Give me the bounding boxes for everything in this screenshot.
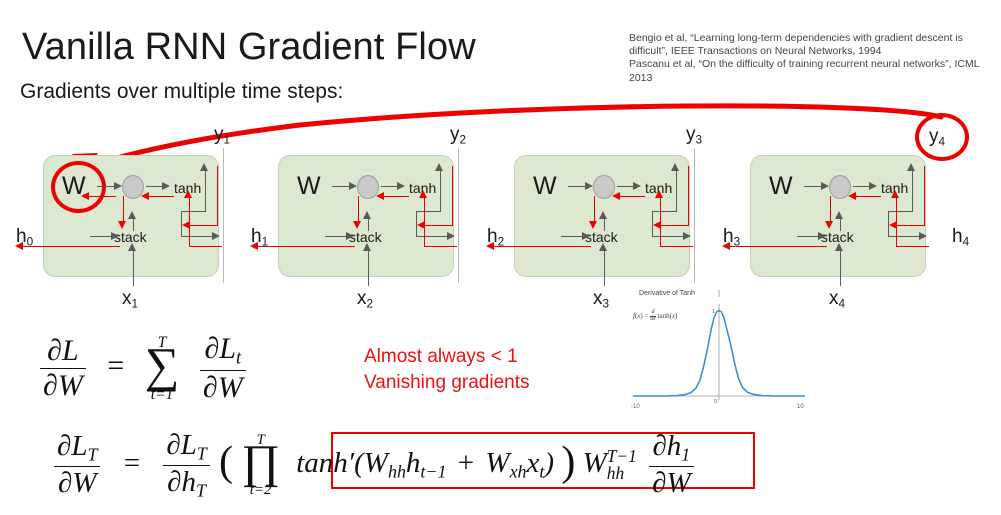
cell-1-y-label: y1 [214,124,230,146]
grad-arrow-y-down-4 [924,166,925,226]
grad-arrowhead-tanh-to-node-2 [376,192,384,200]
cell-4-y-label: y4 [929,126,945,148]
arrowhead-hin-to-stack-1 [111,232,119,240]
arrowhead-tanh-up-3 [671,163,679,171]
inset-chart-plot: 1 0 [625,288,810,410]
grad-arrow-y-in-4 [896,225,925,226]
grad-arrowhead-tanh-to-node-1 [141,192,149,200]
arrowhead-tanh-up-4 [907,163,915,171]
arrow-stack-to-node-2 [368,219,369,231]
arrow-tanh-branch-3 [652,211,677,212]
arrowhead-node-to-tanh-4 [869,182,877,190]
grad-arrow-hin-back-4 [729,246,827,247]
inset-chart-title: Derivative of Tanh [639,290,695,297]
grad-arrow-node-down-4 [830,196,831,222]
product-icon: ∏ [241,436,280,488]
grad-arrow-hout-back-2 [424,246,457,247]
arrow-node-to-tanh-4 [853,186,870,187]
cell-separator-2 [458,148,459,283]
citation-line-1: Bengio et al, “Learning long-term depend… [629,32,989,58]
formula1-equals: = [107,349,124,382]
grad-arrow-y-in-3 [660,225,689,226]
arrow-tanh-up-3 [676,170,677,212]
grad-arrow-y-in-2 [424,225,453,226]
grad-arrowhead-up-tanh-2 [419,190,427,198]
cell-4-h-out-label: h4 [952,226,969,248]
cell-2-y-label: y2 [450,124,466,146]
arrow-stack-to-node-1 [133,219,134,231]
arrow-hout-2 [416,236,449,237]
arrowhead-w-to-node-3 [585,182,593,190]
cell-3-x-label: x3 [593,288,609,310]
formula1-rhs-fraction: ∂Lt ∂W [200,333,246,404]
arrowhead-hin-to-stack-2 [346,232,354,240]
grad-arrow-to-w-1 [88,196,116,197]
arrow-hin-to-stack-3 [561,236,583,237]
formula2-w-power-term: W T−1 hh [583,447,645,479]
tanh-derivative-chart: Derivative of Tanh f(x) = d dx tanh(x) 1… [625,288,810,410]
inset-chart-equation: f(x) = d dx tanh(x) [633,310,677,323]
grad-arrow-right-down-1 [189,225,190,247]
arrowhead-stack-to-node-2 [363,211,371,219]
arrowhead-hout-4 [919,232,927,240]
arrow-hout-3 [652,236,685,237]
arrowhead-stack-to-node-1 [128,211,136,219]
sum-icon: ∑ [145,338,180,392]
arrowhead-stack-to-node-3 [599,211,607,219]
page-title: Vanilla RNN Gradient Flow [22,26,476,69]
grad-arrow-tanh-to-node-1 [148,196,174,197]
grad-arrowhead-y-in-3 [653,221,661,229]
cell-2-weight-label: W [297,172,321,201]
grad-arrowhead-to-w-1 [81,192,89,200]
cell-4-weight-label: W [769,172,793,201]
arrow-node-to-tanh-3 [617,186,634,187]
formula2-last-fraction: ∂h1 ∂W [649,431,694,499]
arrow-node-to-tanh-1 [146,186,163,187]
arrow-tanh-up-4 [912,170,913,212]
arrow-w-to-node-2 [332,186,350,187]
slide-root: Vanilla RNN Gradient Flow Gradients over… [0,0,1001,515]
arrowhead-node-to-tanh-1 [162,182,170,190]
formula2-product-limits: T ∏ t=2 [241,433,280,498]
arrow-w-to-node-4 [804,186,822,187]
citation-line-2: Pascanu et al, “On the difficulty of tra… [629,58,989,84]
cell-4-h-in-label: h3 [723,226,740,248]
formula2-t1-num: ∂LT [163,430,209,466]
arrowhead-node-to-tanh-2 [397,182,405,190]
grad-arrowhead-up-tanh-3 [655,190,663,198]
formula2-dLdh-fraction: ∂LT ∂hT [163,430,209,501]
formula2-equals: = [124,447,140,479]
arrow-w-to-node-1 [97,186,115,187]
grad-arrowhead-node-down-2 [353,221,361,229]
arrow-hin-to-stack-4 [797,236,819,237]
cell-1-h-in-label: h0 [16,226,33,248]
note-line-1: Almost always < 1 [364,344,529,370]
grad-arrow-hout-back-1 [189,246,222,247]
formula2-last-num: ∂h1 [649,431,694,467]
arrow-tanh-branch-1 [181,211,206,212]
arrowhead-x-to-stack-4 [835,243,843,251]
arrow-x-to-stack-1 [133,248,134,286]
grad-arrowhead-node-down-1 [118,221,126,229]
inset-xtick-right: 10 [797,404,804,410]
formula2-t1-den: ∂hT [163,466,209,501]
formula1-rhs-num: ∂Lt [200,333,246,371]
arrowhead-tanh-up-2 [435,163,443,171]
arrowhead-x-to-stack-2 [363,243,371,251]
cell-3-weight-label: W [533,172,557,201]
arrowhead-hin-to-stack-4 [818,232,826,240]
grad-arrowhead-tanh-to-node-3 [612,192,620,200]
formula2-open-paren: ( [219,439,233,485]
formula1-sum-limits: T ∑ t=1 [145,335,180,402]
grad-arrowhead-node-down-4 [825,221,833,229]
grad-arrow-tanh-to-node-2 [383,196,409,197]
formula2-close-paren: ) [561,439,575,485]
arrowhead-hout-2 [447,232,455,240]
grad-arrowhead-y-in-4 [889,221,897,229]
arrow-x-to-stack-3 [604,248,605,286]
cell-2-h-in-label: h1 [251,226,268,248]
arrowhead-w-to-node-4 [821,182,829,190]
arrow-tanh-branch-2 [416,211,441,212]
cell-4-x-label: x4 [829,288,845,310]
cell-1-w-highlight-ellipse [51,161,106,213]
grad-arrowhead-node-down-3 [589,221,597,229]
grad-arrow-node-down-2 [358,196,359,222]
svg-text:0: 0 [714,399,717,405]
arrow-tanh-up-1 [205,170,206,212]
arrowhead-w-to-node-1 [114,182,122,190]
arrowhead-w-to-node-2 [349,182,357,190]
arrow-hout-4 [888,236,921,237]
grad-arrow-tanh-to-node-3 [619,196,645,197]
grad-arrowhead-up-tanh-1 [184,190,192,198]
arrow-x-to-stack-4 [840,248,841,286]
grad-arrowhead-up-tanh-4 [891,190,899,198]
formula-bptt: ∂LT ∂W = ∂LT ∂hT ( T ∏ t=2 tanh′(Whhht−1… [52,430,696,501]
grad-arrow-tanh-to-node-4 [855,196,881,197]
svg-text:1: 1 [712,309,715,315]
grad-arrow-hin-back-2 [257,246,355,247]
grad-arrow-hout-back-4 [896,246,929,247]
arrow-hin-to-stack-1 [90,236,112,237]
grad-arrow-node-down-3 [594,196,595,222]
cell-3-y-label: y3 [686,124,702,146]
grad-arrow-y-down-3 [688,166,689,226]
grad-arrow-hin-back-1 [22,246,120,247]
arrowhead-stack-to-node-4 [835,211,843,219]
note-line-2: Vanishing gradients [364,370,529,396]
arrowhead-x-to-stack-1 [128,243,136,251]
cell-separator-3 [694,148,695,283]
formula2-lhs-num: ∂LT [54,431,100,467]
arrowhead-node-to-tanh-3 [633,182,641,190]
arrow-tanh-branch-4 [888,211,913,212]
arrow-x-to-stack-2 [368,248,369,286]
grad-arrow-y-in-1 [189,225,218,226]
arrow-hout-1 [181,236,214,237]
formula2-boxed-expression: tanh′(Whhht−1 + Wxhxt) [296,447,561,479]
cell-3-h-in-label: h2 [487,226,504,248]
arrow-node-to-tanh-2 [381,186,398,187]
cell-separator-1 [223,148,224,283]
arrow-hin-to-stack-2 [325,236,347,237]
vanishing-gradient-note: Almost always < 1 Vanishing gradients [364,344,529,396]
formula1-lhs-fraction: ∂L ∂W [40,335,86,403]
formula2-lhs-fraction: ∂LT ∂W [54,431,100,499]
citation-block: Bengio et al, “Learning long-term depend… [629,32,989,85]
grad-arrow-y-down-1 [217,166,218,226]
cell-1-x-label: x1 [122,288,138,310]
arrowhead-hout-3 [683,232,691,240]
grad-arrowhead-tanh-to-node-4 [848,192,856,200]
arrowhead-hin-to-stack-3 [582,232,590,240]
arrowhead-x-to-stack-3 [599,243,607,251]
arrow-tanh-up-2 [440,170,441,212]
arrowhead-hout-1 [212,232,220,240]
grad-arrow-node-down-1 [123,196,124,222]
arrow-stack-to-node-4 [840,219,841,231]
grad-arrow-y-down-2 [452,166,453,226]
cell-2-x-label: x2 [357,288,373,310]
grad-arrowhead-y-in-2 [417,221,425,229]
arrow-stack-to-node-3 [604,219,605,231]
arrow-w-to-node-3 [568,186,586,187]
arrowhead-tanh-up-1 [200,163,208,171]
grad-arrow-hin-back-3 [493,246,591,247]
formula-total-gradient: ∂L ∂W = T ∑ t=1 ∂Lt ∂W [38,333,248,404]
inset-xtick-left: -10 [631,404,640,410]
grad-arrow-hout-back-3 [660,246,693,247]
